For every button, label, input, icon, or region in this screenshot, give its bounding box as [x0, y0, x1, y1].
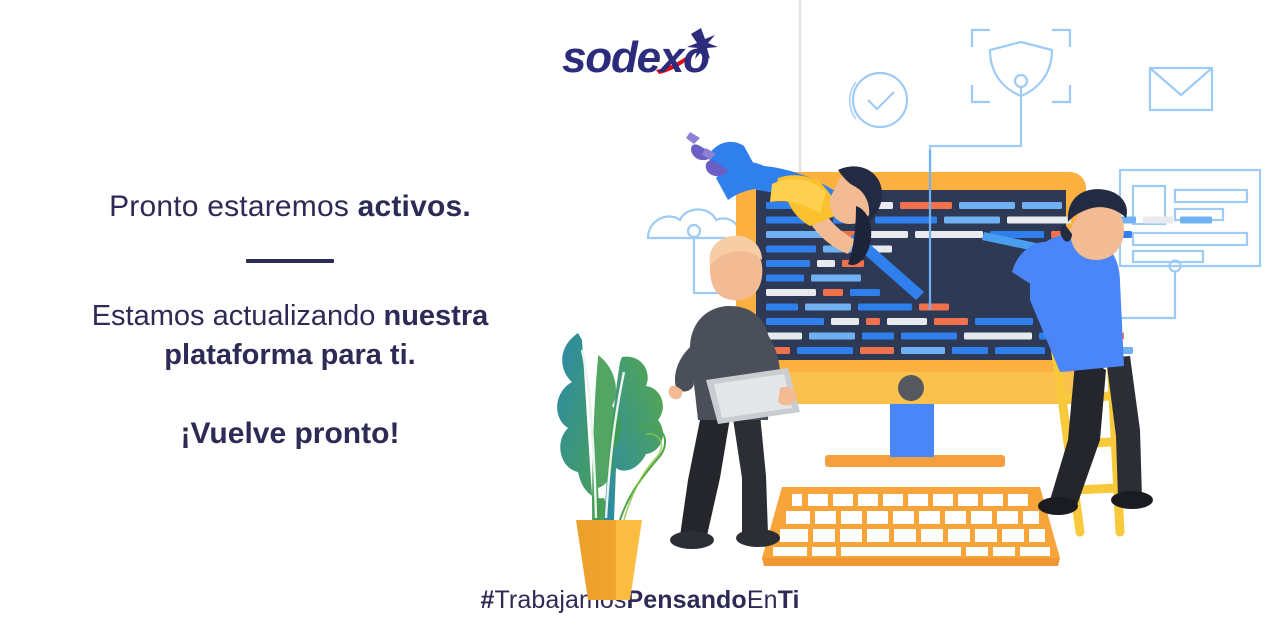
code-line-segment — [1007, 217, 1071, 224]
headline-line-1-light: Pronto estaremos — [109, 190, 358, 223]
headline-line-3: ¡Vuelve pronto! — [0, 417, 580, 451]
headline-line-2: Estamos actualizando nuestra plataforma … — [0, 297, 580, 375]
power-led — [898, 375, 924, 401]
code-line-segment — [964, 333, 1032, 340]
headline-line-2-light: Estamos actualizando — [92, 300, 384, 332]
code-line-segment — [901, 347, 945, 354]
code-line-segment — [766, 304, 798, 311]
code-line-segment — [817, 260, 835, 267]
code-line-segment — [858, 304, 912, 311]
code-line-segment — [766, 318, 824, 325]
code-line-segment — [944, 217, 1000, 224]
code-line-segment — [766, 275, 804, 282]
code-line-segment — [811, 275, 861, 282]
code-line-segment — [995, 347, 1045, 354]
code-line-segment — [860, 347, 894, 354]
illustration-svg — [520, 0, 1280, 640]
code-line-segment — [797, 347, 853, 354]
monitor-neck — [890, 395, 934, 457]
code-line-segment — [934, 318, 968, 325]
check-circle-icon — [850, 73, 907, 127]
code-line-segment — [823, 289, 843, 296]
code-line-segment — [866, 318, 880, 325]
code-line-segment — [919, 304, 949, 311]
headline-divider — [246, 259, 334, 263]
code-line-segment — [900, 202, 952, 209]
code-line-segment — [887, 318, 927, 325]
potted-plant — [557, 333, 665, 600]
hashtag-symbol: # — [480, 586, 494, 614]
code-line-segment — [975, 318, 1033, 325]
code-line-segment — [805, 304, 851, 311]
code-line-segment — [915, 231, 983, 238]
code-line-segment — [831, 318, 859, 325]
code-line-segment — [952, 347, 988, 354]
illustration — [520, 0, 1280, 640]
code-line-segment — [850, 289, 880, 296]
code-line-segment — [766, 333, 802, 340]
headline-block: Pronto estaremos activos. Estamos actual… — [0, 190, 580, 451]
code-line-segment — [1180, 217, 1212, 224]
code-line-segment — [959, 202, 1015, 209]
code-line-segment — [1143, 217, 1173, 224]
headline-line-1-bold: activos. — [358, 190, 471, 223]
code-line-segment — [901, 333, 957, 340]
code-line-segment — [766, 246, 816, 253]
code-line-segment — [875, 217, 937, 224]
headline-line-1: Pronto estaremos activos. — [0, 190, 580, 225]
code-line-segment — [766, 289, 816, 296]
code-line-segment — [809, 333, 855, 340]
code-line-segment — [766, 260, 810, 267]
code-line-segment — [1022, 202, 1062, 209]
code-line-segment — [870, 231, 908, 238]
keyboard — [762, 487, 1060, 566]
envelope-icon — [1150, 68, 1212, 110]
code-line-segment — [862, 333, 894, 340]
page-root: sodexo Pronto estaremos activos. Estamos… — [0, 0, 1280, 640]
